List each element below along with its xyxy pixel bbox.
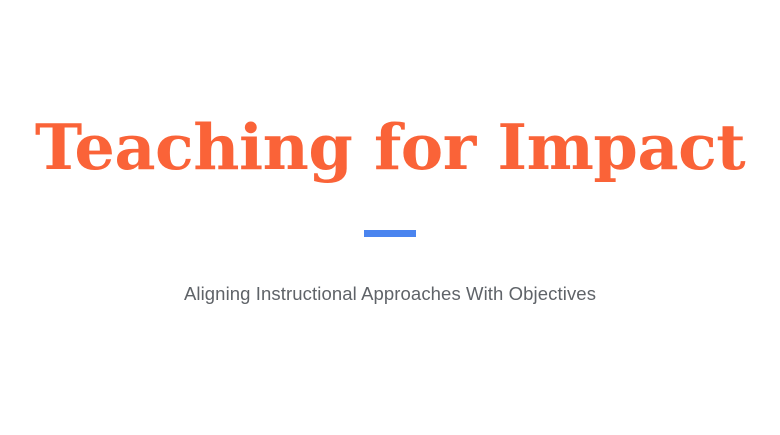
title-slide: Teaching for Impact Aligning Instruction… [0,0,780,435]
divider-container [0,230,780,237]
page-subtitle: Aligning Instructional Approaches With O… [0,279,780,309]
subtitle-block: Aligning Instructional Approaches With O… [0,279,780,309]
title-block: Teaching for Impact [0,116,780,178]
page-title: Teaching for Impact [0,116,780,178]
accent-divider-bar [364,230,416,237]
